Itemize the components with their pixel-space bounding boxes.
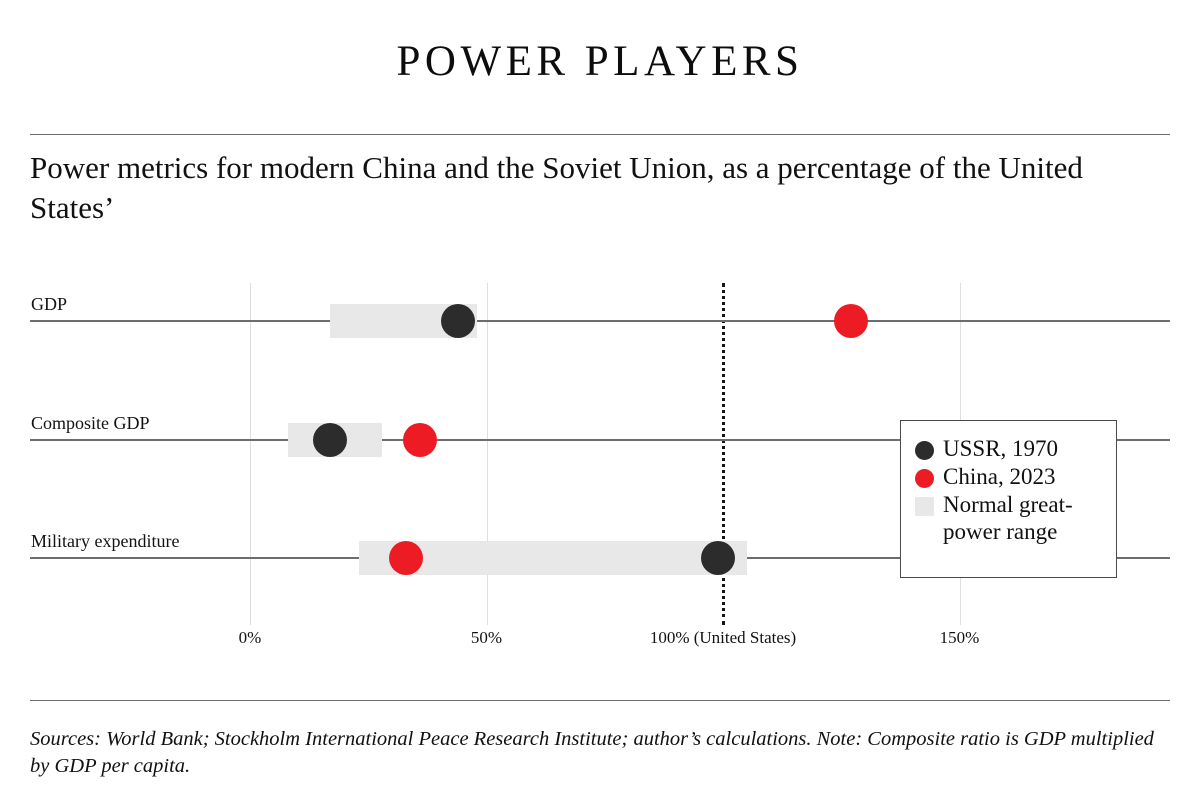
axis-tick-label: 0%	[239, 628, 262, 648]
chart-legend: USSR, 1970 China, 2023 Normal great-powe…	[900, 420, 1117, 578]
divider-bottom	[30, 700, 1170, 701]
data-point-china	[389, 541, 423, 575]
axis-tick-label: 150%	[940, 628, 980, 648]
infographic-page: POWER PLAYERS Power metrics for modern C…	[0, 0, 1200, 810]
source-note: Sources: World Bank; Stockholm Internati…	[30, 726, 1175, 780]
legend-marker-square-icon	[915, 497, 934, 516]
legend-label-range: Normal great-power range	[943, 491, 1106, 545]
row-label: GDP	[31, 294, 67, 315]
legend-marker-circle-icon	[915, 469, 934, 488]
page-title: POWER PLAYERS	[30, 38, 1170, 85]
legend-item-range: Normal great-power range	[915, 491, 1106, 545]
legend-label-ussr: USSR, 1970	[943, 435, 1058, 462]
row-label: Composite GDP	[31, 413, 150, 434]
legend-item-ussr: USSR, 1970	[915, 435, 1106, 462]
gridline-0	[250, 283, 251, 625]
page-subtitle: Power metrics for modern China and the S…	[30, 148, 1090, 227]
data-point-china	[403, 423, 437, 457]
data-point-ussr	[441, 304, 475, 338]
axis-tick-label: 50%	[471, 628, 502, 648]
row-baseline	[30, 320, 1170, 322]
data-point-china	[834, 304, 868, 338]
axis-tick-label: 100% (United States)	[650, 628, 796, 648]
legend-label-china: China, 2023	[943, 463, 1055, 490]
legend-item-china: China, 2023	[915, 463, 1106, 490]
legend-marker-circle-icon	[915, 441, 934, 460]
row-label: Military expenditure	[31, 531, 179, 552]
divider-top	[30, 134, 1170, 135]
